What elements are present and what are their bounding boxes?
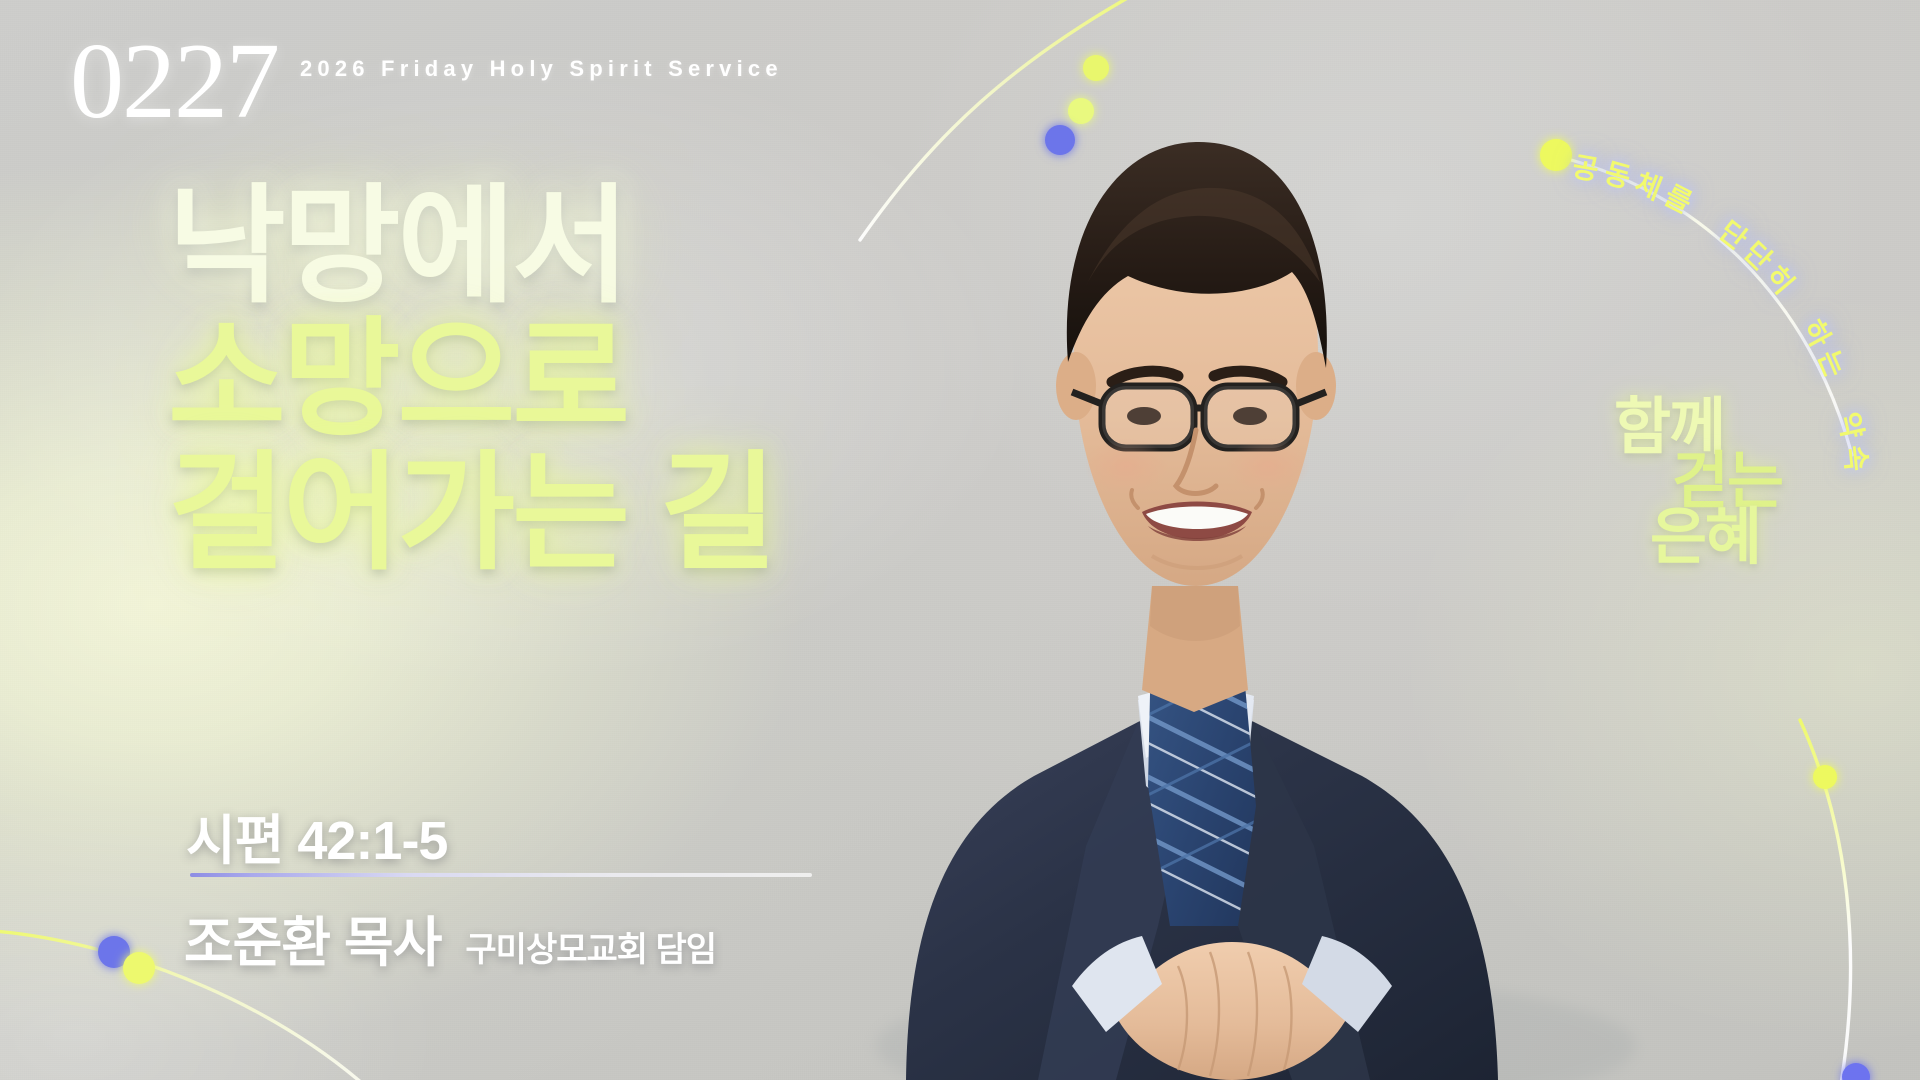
scripture-reference: 시편 42:1-5 (186, 796, 447, 875)
arc-tagline: 공동체를단단히하는약속 (1490, 70, 1920, 400)
headline-line-1: 낙망에서 (168, 182, 988, 311)
slogan-line-3: 은혜 (1650, 486, 1760, 576)
service-subtitle: 2026 Friday Holy Spirit Service (300, 56, 783, 82)
divider-line (190, 873, 812, 877)
speaker-role: 구미상모교회 담임 (465, 922, 716, 977)
speaker-name: 조준환 목사 (184, 898, 441, 977)
headline-line-3: 걸어가는 길 (168, 449, 988, 578)
arc-tagline-char: 동 (1600, 152, 1636, 197)
sermon-headline: 낙망에서 소망으로 걸어가는 길 (168, 182, 988, 582)
speaker-block: 조준환 목사 구미상모교회 담임 (184, 898, 716, 977)
headline-line-2: 소망으로 (168, 315, 988, 444)
slogan-stack: 함께 걷는 은혜 (1614, 376, 1874, 586)
arc-tagline-char: 를 (1659, 174, 1700, 221)
date-badge: 0227 (70, 28, 278, 136)
sermon-title-card: 0227 2026 Friday Holy Spirit Service 낙망에… (0, 0, 1920, 1080)
arc-tagline-char: 공 (1570, 145, 1602, 189)
